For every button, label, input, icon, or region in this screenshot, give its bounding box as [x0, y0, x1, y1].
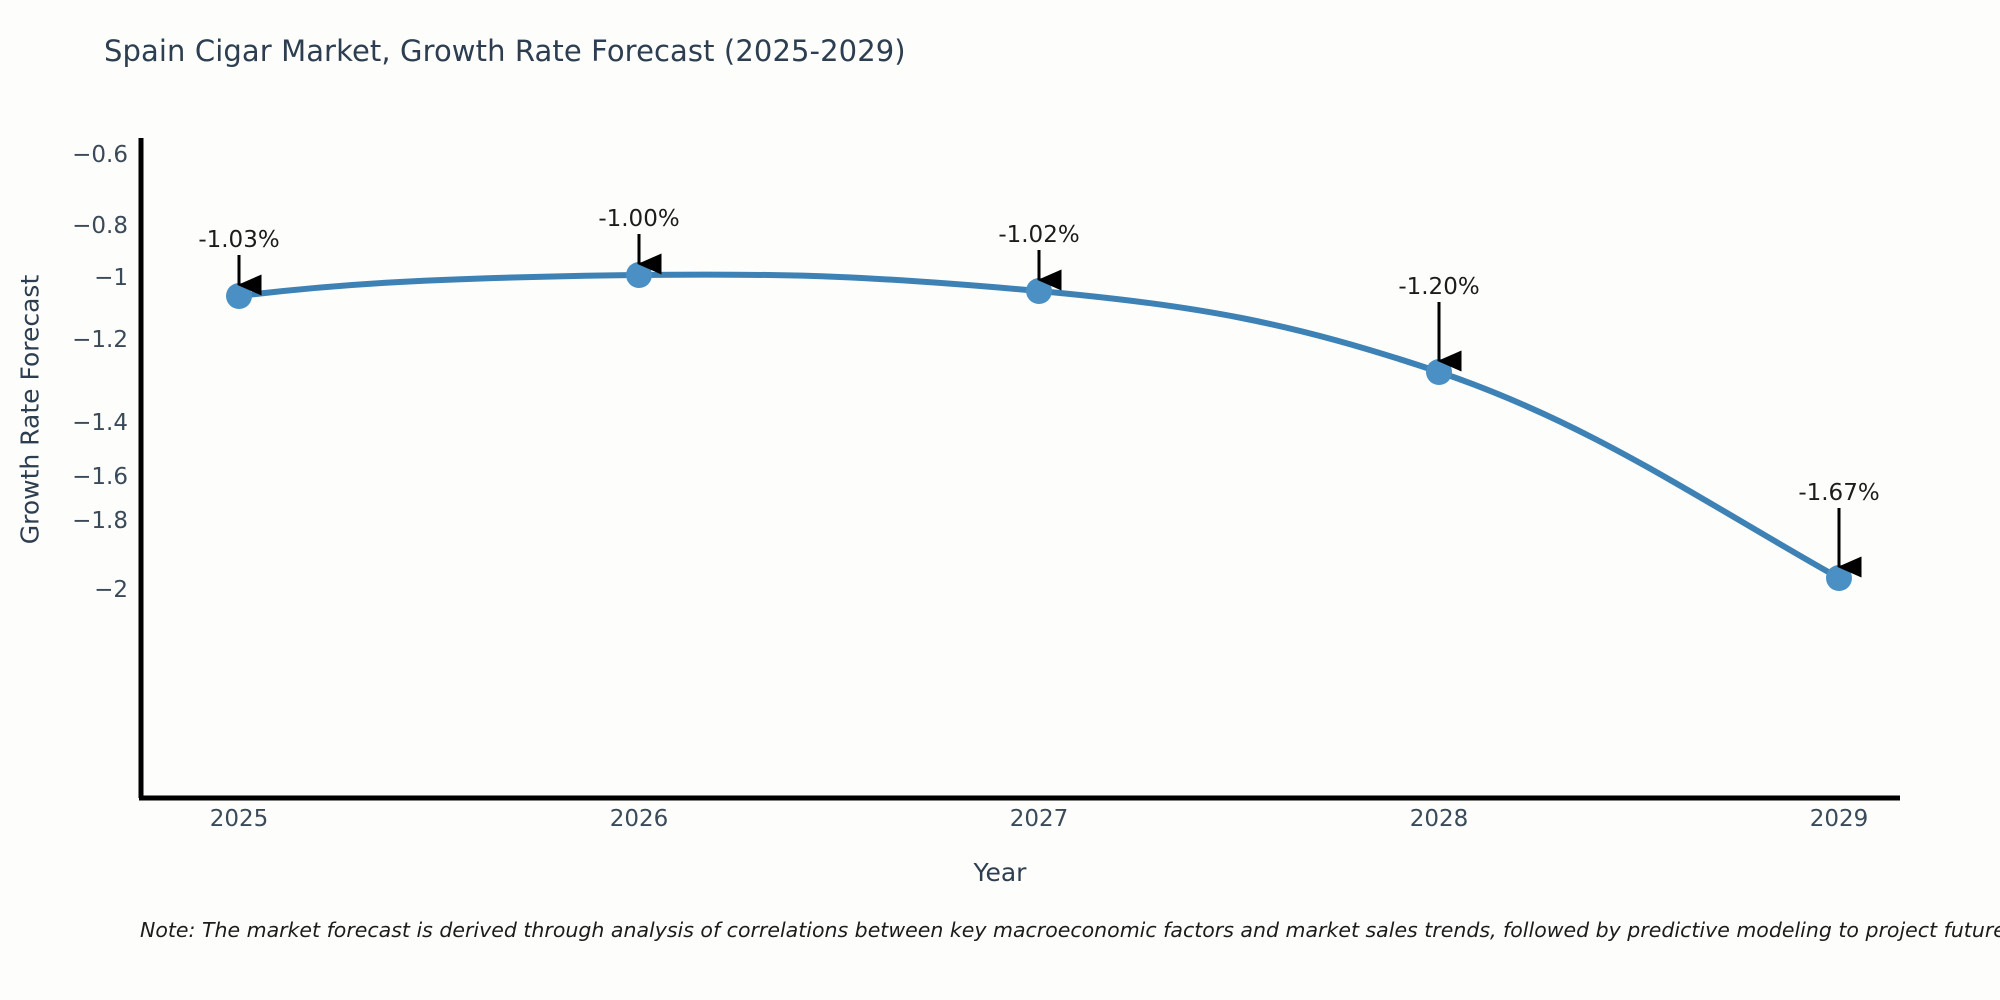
x-tick-label-2029: 2029 [1810, 806, 1869, 832]
data-series-line [239, 275, 1839, 578]
data-point-marker[interactable] [226, 283, 252, 309]
data-point-marker[interactable] [1826, 565, 1852, 591]
data-point-annotation: -1.02% [998, 222, 1079, 248]
data-point-marker[interactable] [626, 262, 652, 288]
x-tick-label-2028: 2028 [1410, 806, 1469, 832]
data-point-marker[interactable] [1026, 278, 1052, 304]
footnote-text: Note: The market forecast is derived thr… [140, 918, 2000, 942]
plot-area [0, 0, 2000, 1000]
data-point-annotation: -1.67% [1798, 480, 1879, 506]
data-point-marker[interactable] [1426, 359, 1452, 385]
x-tick-label-2027: 2027 [1010, 806, 1069, 832]
data-point-annotation: -1.20% [1398, 274, 1479, 300]
x-tick-label-2025: 2025 [210, 806, 269, 832]
x-tick-label-2026: 2026 [610, 806, 669, 832]
data-point-annotation: -1.00% [598, 206, 679, 232]
data-point-annotation: -1.03% [198, 227, 279, 253]
chart-figure: Spain Cigar Market, Growth Rate Forecast… [0, 0, 2000, 1000]
